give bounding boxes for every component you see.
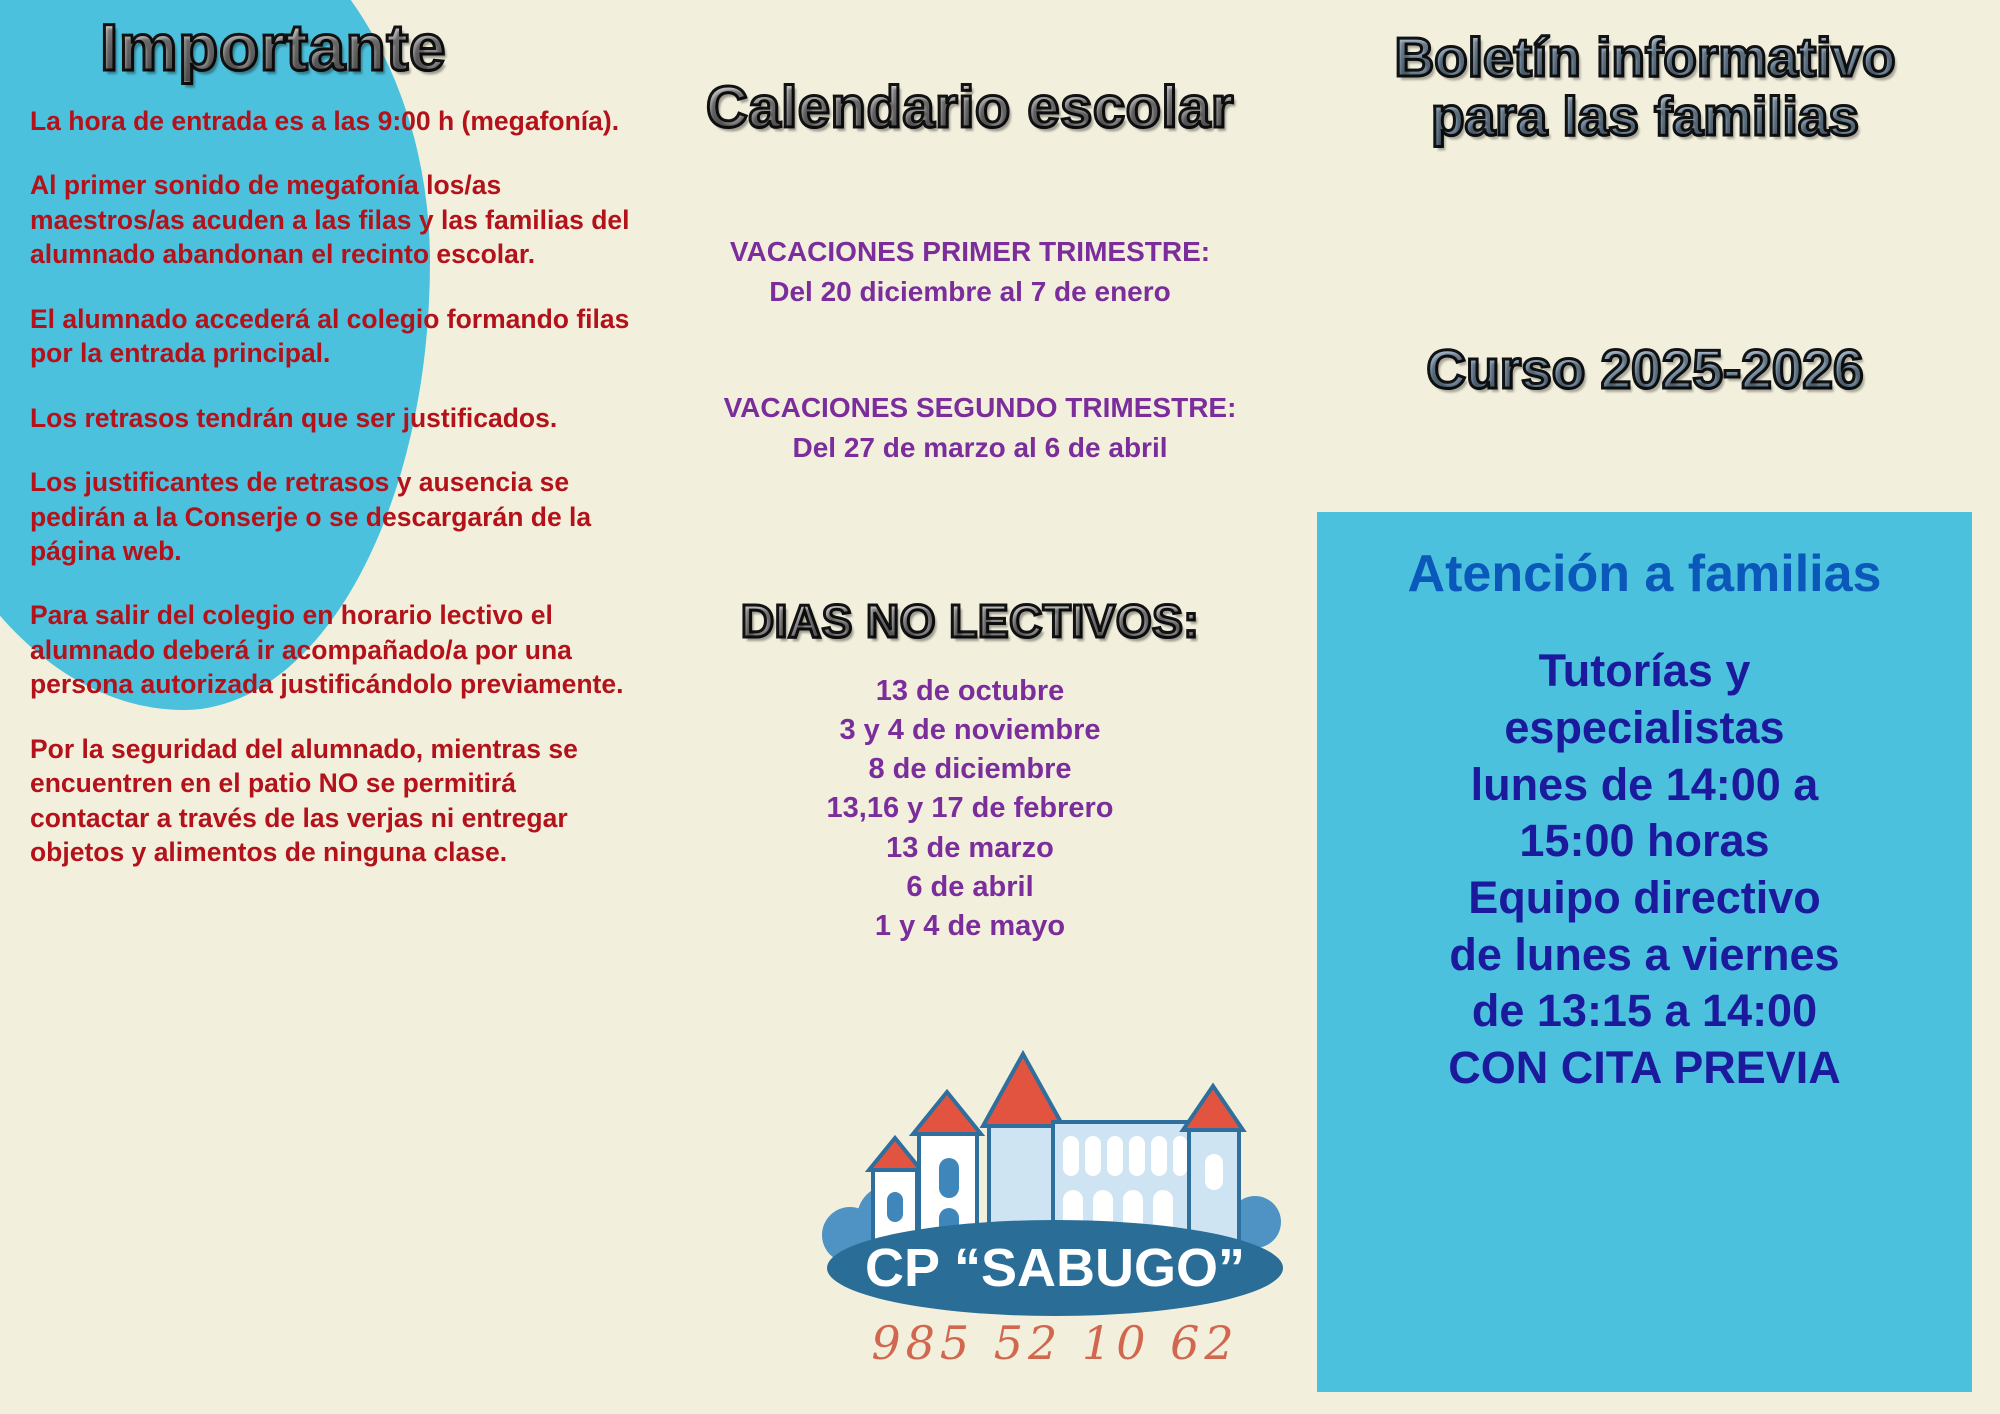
vacation-first-title: VACACIONES PRIMER TRIMESTRE: xyxy=(660,232,1280,272)
schedule-line: 15:00 horas xyxy=(1317,813,1972,870)
panel-schedule: Tutorías y especialistas lunes de 14:00 … xyxy=(1317,643,1972,1097)
bulletin-title-line1: Boletín informativo xyxy=(1290,28,2000,87)
logo-school-name: CP “SABUGO” xyxy=(865,1238,1245,1298)
list-item: 13 de octubre xyxy=(660,672,1280,711)
castle-building-icon: CP “SABUGO” xyxy=(795,1030,1315,1330)
schedule-line: especialistas xyxy=(1317,700,1972,757)
left-column: Importante La hora de entrada es a las 9… xyxy=(0,0,660,1414)
schedule-line: Equipo directivo xyxy=(1317,870,1972,927)
rule-paragraph: Para salir del colegio en horario lectiv… xyxy=(30,598,630,701)
schedule-line: lunes de 14:00 a xyxy=(1317,757,1972,814)
rule-paragraph: Los justificantes de retrasos y ausencia… xyxy=(30,465,630,568)
vacation-first-trimester: VACACIONES PRIMER TRIMESTRE: Del 20 dici… xyxy=(660,232,1280,313)
course-year: Curso 2025-2026 xyxy=(1290,340,2000,399)
list-item: 6 de abril xyxy=(660,868,1280,907)
dias-no-lectivos-heading: DIAS NO LECTIVOS: xyxy=(640,598,1300,645)
list-item: 8 de diciembre xyxy=(660,750,1280,789)
schedule-line: de lunes a viernes xyxy=(1317,927,1972,984)
rule-paragraph: La hora de entrada es a las 9:00 h (mega… xyxy=(30,104,630,138)
importante-heading: Importante xyxy=(100,14,446,81)
panel-title: Atención a familias xyxy=(1317,546,1972,603)
logo-phone-number: 985 52 10 62 xyxy=(795,1316,1315,1370)
bulletin-title: Boletín informativo para las familias xyxy=(1290,28,2000,147)
right-column: Boletín informativo para las familias Cu… xyxy=(1290,0,2000,1414)
family-attention-panel: Atención a familias Tutorías y especiali… xyxy=(1317,512,1972,1392)
list-item: 3 y 4 de noviembre xyxy=(660,711,1280,750)
calendario-escolar-heading: Calendario escolar xyxy=(640,78,1300,137)
rule-paragraph: Los retrasos tendrán que ser justificado… xyxy=(30,401,630,435)
vacation-second-title: VACACIONES SEGUNDO TRIMESTRE: xyxy=(700,388,1260,428)
schedule-line: CON CITA PREVIA xyxy=(1317,1040,1972,1097)
list-item: 13 de marzo xyxy=(660,829,1280,868)
rule-paragraph: Por la seguridad del alumnado, mientras … xyxy=(30,732,630,870)
bulletin-title-line2: para las familias xyxy=(1290,87,2000,146)
school-logo: CP “SABUGO” 985 52 10 62 xyxy=(795,1030,1315,1400)
importante-body: La hora de entrada es a las 9:00 h (mega… xyxy=(30,104,630,869)
non-lective-days-list: 13 de octubre 3 y 4 de noviembre 8 de di… xyxy=(660,672,1280,946)
rule-paragraph: Al primer sonido de megafonía los/as mae… xyxy=(30,168,630,271)
list-item: 1 y 4 de mayo xyxy=(660,907,1280,946)
vacation-second-trimester: VACACIONES SEGUNDO TRIMESTRE: Del 27 de … xyxy=(700,388,1260,469)
rule-paragraph: El alumnado accederá al colegio formando… xyxy=(30,302,630,371)
middle-column: Calendario escolar VACACIONES PRIMER TRI… xyxy=(640,0,1300,1414)
vacation-first-dates: Del 20 diciembre al 7 de enero xyxy=(660,272,1280,312)
schedule-line: Tutorías y xyxy=(1317,643,1972,700)
list-item: 13,16 y 17 de febrero xyxy=(660,789,1280,828)
schedule-line: de 13:15 a 14:00 xyxy=(1317,983,1972,1040)
vacation-second-dates: Del 27 de marzo al 6 de abril xyxy=(700,428,1260,468)
